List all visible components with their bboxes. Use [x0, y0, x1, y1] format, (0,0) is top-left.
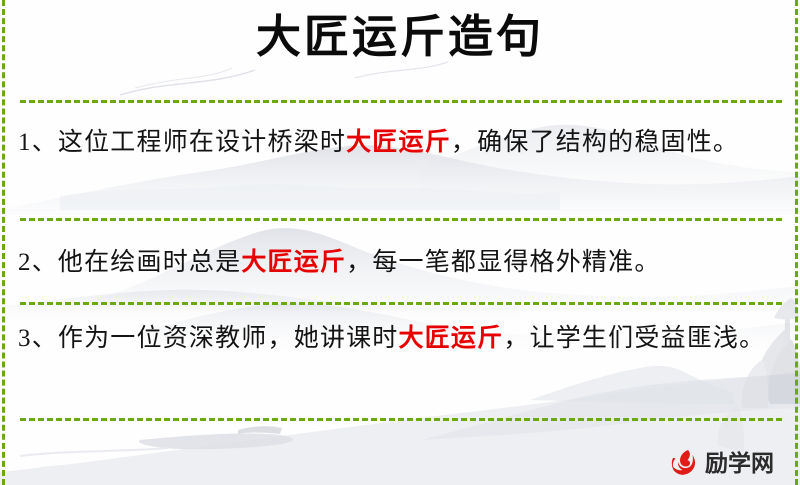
sentence-3-keyword: 大匠运斤	[399, 325, 504, 352]
site-logo-text: 励学网	[705, 452, 774, 475]
sentence-item-3: 3、作为一位资深教师，她讲课时大匠运斤，让学生们受益匪浅。	[18, 318, 766, 360]
sentence-example-page: 大匠运斤造句 1、这位工程师在设计桥梁时大匠运斤，确保了结构的稳固性。 2、他在…	[0, 0, 800, 485]
separator-after-sentence-2	[20, 302, 782, 305]
sentence-item-1: 1、这位工程师在设计桥梁时大匠运斤，确保了结构的稳固性。	[18, 122, 766, 164]
sentence-3-after: ，让学生们受益匪浅。	[503, 325, 765, 352]
separator-after-sentence-1	[20, 218, 782, 221]
frame-border-right	[795, 0, 798, 485]
separator-after-sentence-3	[20, 418, 782, 421]
site-logo[interactable]: 励学网	[668, 446, 774, 480]
sentence-3-before: 作为一位资深教师，她讲课时	[58, 325, 399, 352]
sentence-1-index: 1、	[18, 129, 58, 156]
sentence-2-after: ，每一笔都显得格外精准。	[346, 249, 660, 276]
separator-under-title	[20, 100, 782, 103]
sentence-2-index: 2、	[18, 249, 58, 276]
sentence-item-2: 2、他在绘画时总是大匠运斤，每一笔都显得格外精准。	[18, 242, 766, 284]
sentence-1-keyword: 大匠运斤	[346, 129, 451, 156]
red-swirl-flame-icon	[668, 447, 700, 479]
frame-border-left	[2, 0, 5, 485]
sentence-3-index: 3、	[18, 325, 58, 352]
sentence-2-before: 他在绘画时总是	[58, 249, 241, 276]
sentence-2-keyword: 大匠运斤	[241, 249, 346, 276]
page-title: 大匠运斤造句	[0, 14, 800, 61]
sentence-1-before: 这位工程师在设计桥梁时	[58, 129, 346, 156]
sentence-1-after: ，确保了结构的稳固性。	[451, 129, 739, 156]
